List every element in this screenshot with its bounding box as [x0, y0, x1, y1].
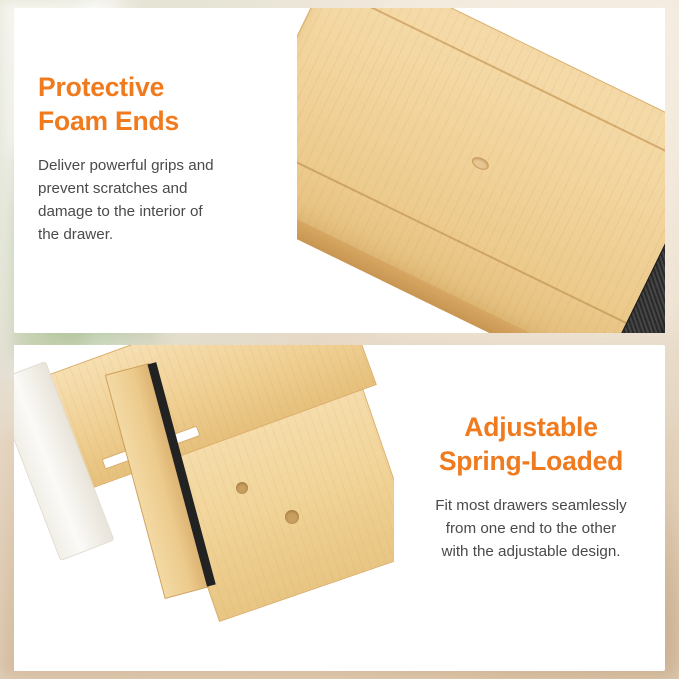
body-line-3: damage to the interior of [38, 200, 288, 223]
pivot-hole-icon-2 [285, 510, 299, 524]
photo-foam-end [297, 8, 665, 333]
body-adjustable-spring-loaded: Fit most drawers seamlessly from one end… [400, 494, 662, 563]
body-line-2: prevent scratches and [38, 177, 288, 200]
photo-spring-loaded [14, 345, 394, 671]
headline-line-1: Protective [38, 70, 288, 104]
headline-line-2: Spring-Loaded [400, 444, 662, 478]
headline-adjustable-spring-loaded: Adjustable Spring-Loaded [400, 410, 662, 478]
bamboo-board-face [297, 8, 665, 333]
body-protective-foam-ends: Deliver powerful grips and prevent scrat… [38, 154, 288, 246]
body-line-2: from one end to the other [400, 517, 662, 540]
text-protective-foam-ends: Protective Foam Ends Deliver powerful gr… [38, 70, 288, 246]
headline-line-1: Adjustable [400, 410, 662, 444]
headline-protective-foam-ends: Protective Foam Ends [38, 70, 288, 138]
pivot-hole-icon-1 [236, 482, 248, 494]
bamboo-board-top [297, 8, 665, 333]
body-line-1: Deliver powerful grips and [38, 154, 288, 177]
text-adjustable-spring-loaded: Adjustable Spring-Loaded Fit most drawer… [400, 410, 662, 563]
infographic-page: Protective Foam Ends Deliver powerful gr… [0, 0, 679, 679]
body-line-1: Fit most drawers seamlessly [400, 494, 662, 517]
body-line-3: with the adjustable design. [400, 540, 662, 563]
headline-line-2: Foam Ends [38, 104, 288, 138]
body-line-4: the drawer. [38, 223, 288, 246]
